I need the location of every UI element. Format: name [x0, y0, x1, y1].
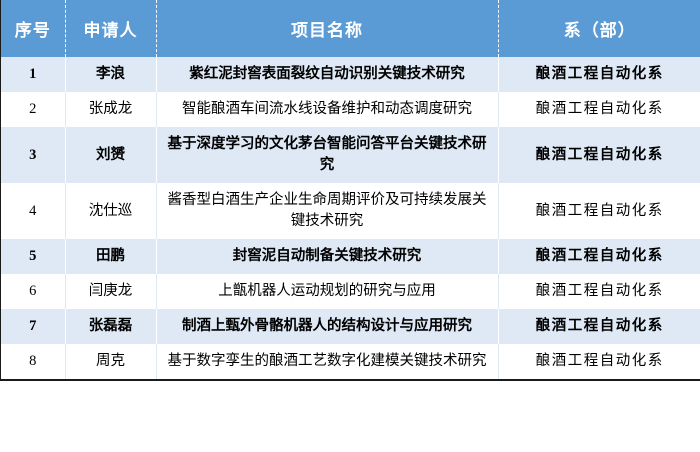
table-row: 4沈仕巡酱香型白酒生产企业生命周期评价及可持续发展关键技术研究酿酒工程自动化系	[1, 183, 700, 239]
table-frame: 序号 申请人 项目名称 系（部） 1李浪紫红泥封窖表面裂纹自动识别关键技术研究酿…	[0, 0, 700, 381]
cell-department: 酿酒工程自动化系	[498, 57, 700, 92]
applicant-table: 序号 申请人 项目名称 系（部） 1李浪紫红泥封窖表面裂纹自动识别关键技术研究酿…	[1, 0, 700, 379]
cell-applicant-name: 张磊磊	[65, 309, 156, 344]
table-row: 6闫庚龙上甑机器人运动规划的研究与应用酿酒工程自动化系	[1, 274, 700, 309]
header-row: 序号 申请人 项目名称 系（部）	[1, 0, 700, 57]
table-row: 3刘赟基于深度学习的文化茅台智能问答平台关键技术研究酿酒工程自动化系	[1, 127, 700, 183]
table-row: 2张成龙智能酿酒车间流水线设备维护和动态调度研究酿酒工程自动化系	[1, 92, 700, 127]
cell-project-title: 基于深度学习的文化茅台智能问答平台关键技术研究	[156, 127, 498, 183]
cell-seq: 3	[1, 127, 65, 183]
cell-seq: 1	[1, 57, 65, 92]
table-row: 8周克基于数字孪生的酿酒工艺数字化建模关键技术研究酿酒工程自动化系	[1, 344, 700, 379]
cell-department: 酿酒工程自动化系	[498, 309, 700, 344]
cell-project-title: 制酒上甄外骨骼机器人的结构设计与应用研究	[156, 309, 498, 344]
cell-department: 酿酒工程自动化系	[498, 183, 700, 239]
table-header: 序号 申请人 项目名称 系（部）	[1, 0, 700, 57]
cell-applicant-name: 李浪	[65, 57, 156, 92]
cell-project-title: 上甑机器人运动规划的研究与应用	[156, 274, 498, 309]
cell-project-title: 封窖泥自动制备关键技术研究	[156, 239, 498, 274]
table-row: 7张磊磊制酒上甄外骨骼机器人的结构设计与应用研究酿酒工程自动化系	[1, 309, 700, 344]
column-header-title: 项目名称	[156, 0, 498, 57]
column-header-seq: 序号	[1, 0, 65, 57]
table-row: 5田鹏封窖泥自动制备关键技术研究酿酒工程自动化系	[1, 239, 700, 274]
cell-seq: 8	[1, 344, 65, 379]
cell-applicant-name: 周克	[65, 344, 156, 379]
cell-department: 酿酒工程自动化系	[498, 344, 700, 379]
column-header-name: 申请人	[65, 0, 156, 57]
column-header-dept: 系（部）	[498, 0, 700, 57]
cell-seq: 6	[1, 274, 65, 309]
cell-seq: 5	[1, 239, 65, 274]
cell-department: 酿酒工程自动化系	[498, 274, 700, 309]
cell-project-title: 酱香型白酒生产企业生命周期评价及可持续发展关键技术研究	[156, 183, 498, 239]
cell-project-title: 紫红泥封窖表面裂纹自动识别关键技术研究	[156, 57, 498, 92]
cell-seq: 2	[1, 92, 65, 127]
cell-department: 酿酒工程自动化系	[498, 92, 700, 127]
cell-applicant-name: 田鹏	[65, 239, 156, 274]
cell-seq: 7	[1, 309, 65, 344]
cell-applicant-name: 闫庚龙	[65, 274, 156, 309]
cell-project-title: 智能酿酒车间流水线设备维护和动态调度研究	[156, 92, 498, 127]
cell-department: 酿酒工程自动化系	[498, 239, 700, 274]
table-row: 1李浪紫红泥封窖表面裂纹自动识别关键技术研究酿酒工程自动化系	[1, 57, 700, 92]
cell-department: 酿酒工程自动化系	[498, 127, 700, 183]
cell-applicant-name: 刘赟	[65, 127, 156, 183]
cell-project-title: 基于数字孪生的酿酒工艺数字化建模关键技术研究	[156, 344, 498, 379]
table-body: 1李浪紫红泥封窖表面裂纹自动识别关键技术研究酿酒工程自动化系2张成龙智能酿酒车间…	[1, 57, 700, 379]
cell-applicant-name: 沈仕巡	[65, 183, 156, 239]
cell-seq: 4	[1, 183, 65, 239]
cell-applicant-name: 张成龙	[65, 92, 156, 127]
